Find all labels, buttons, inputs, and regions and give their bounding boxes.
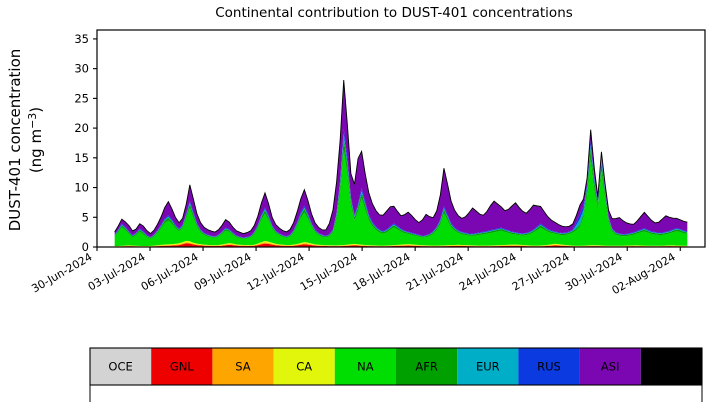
legend-label-eur: EUR bbox=[476, 360, 500, 374]
legend-item-na[interactable]: NA bbox=[335, 348, 396, 385]
y-axis-label-paren: ) bbox=[27, 107, 45, 113]
legend-item-afr[interactable]: AFR bbox=[396, 348, 457, 385]
legend-label-sa: SA bbox=[235, 360, 251, 374]
legend-item-aus[interactable]: AUS bbox=[641, 348, 702, 385]
legend-label-oce: OCE bbox=[108, 360, 132, 374]
y-axis-label-line1: DUST-401 concentration bbox=[6, 49, 24, 232]
legend-item-ca[interactable]: CA bbox=[274, 348, 335, 385]
legend-item-oce[interactable]: OCE bbox=[90, 348, 151, 385]
chart-svg: Continental contribution to DUST-401 con… bbox=[0, 0, 721, 402]
legend-item-gnl[interactable]: GNL bbox=[151, 348, 212, 385]
y-tick-label: 30 bbox=[74, 62, 89, 76]
y-tick-label: 15 bbox=[74, 151, 89, 165]
legend-label-gnl: GNL bbox=[170, 360, 195, 374]
legend-label-afr: AFR bbox=[415, 360, 437, 374]
legend-item-rus[interactable]: RUS bbox=[518, 348, 579, 385]
y-axis-label-units: (ng m bbox=[27, 129, 45, 173]
y-tick-label: 25 bbox=[74, 91, 89, 105]
legend-label-na: NA bbox=[357, 360, 374, 374]
y-tick-label: 10 bbox=[74, 181, 89, 195]
legend-label-aus: AUS bbox=[660, 360, 684, 374]
legend: OCEGNLSACANAAFREURRUSASIAUS bbox=[90, 348, 702, 385]
legend-item-eur[interactable]: EUR bbox=[457, 348, 518, 385]
figure-container: Continental contribution to DUST-401 con… bbox=[0, 0, 721, 402]
y-tick-label: 35 bbox=[74, 32, 89, 46]
legend-item-asi[interactable]: ASI bbox=[580, 348, 641, 385]
legend-item-sa[interactable]: SA bbox=[212, 348, 273, 385]
legend-label-rus: RUS bbox=[537, 360, 561, 374]
legend-label-asi: ASI bbox=[601, 360, 620, 374]
y-axis-label-exponent: −3 bbox=[26, 113, 39, 129]
y-tick-label: 5 bbox=[82, 210, 89, 224]
chart-title: Continental contribution to DUST-401 con… bbox=[215, 5, 573, 21]
legend-label-ca: CA bbox=[296, 360, 312, 374]
y-tick-label: 20 bbox=[74, 121, 89, 135]
